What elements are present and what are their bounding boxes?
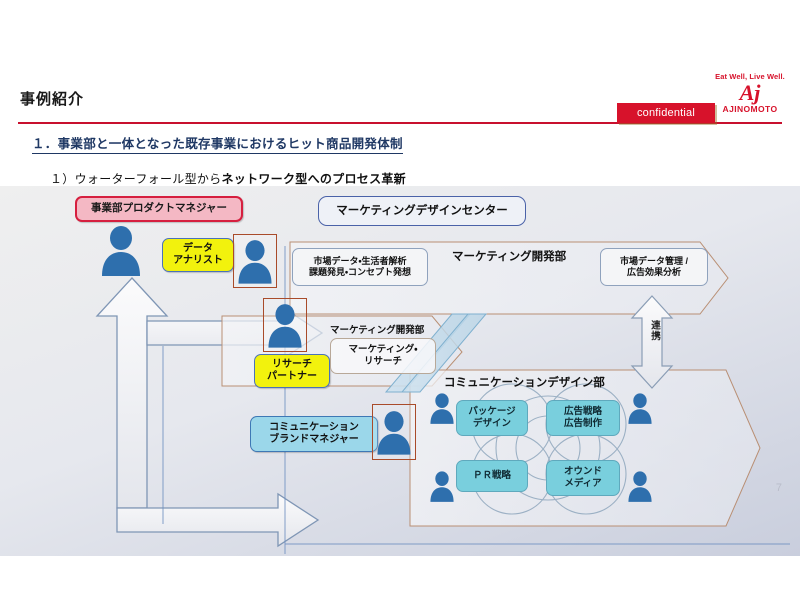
person-icon-comm-team-bottom-right xyxy=(626,470,654,502)
node-task-ad-strategy[interactable]: 広告戦略 広告制作 xyxy=(546,400,620,436)
ajinomoto-logo: Eat Well, Live Well. Aj AJINOMOTO xyxy=(706,72,794,130)
page-title: 事例紹介 xyxy=(20,88,84,109)
person-icon-comm-team-top-left xyxy=(428,392,456,424)
label-marketing-dev-dept-top: マーケティング開発部 xyxy=(452,248,566,264)
person-icon-comm-team-bottom-left xyxy=(428,470,456,502)
node-product-manager[interactable]: 事業部プロダクトマネジャー xyxy=(75,196,243,222)
section-heading-2: １）ウォーターフォール型からネットワーク型へのプロセス革新 xyxy=(50,170,406,187)
label-marketing-dev-dept-inner: マーケティング開発部 xyxy=(330,322,424,336)
logo-wordmark: AJINOMOTO xyxy=(706,104,794,114)
section-heading-2-emphasis: ネットワーク型へのプロセス革新 xyxy=(221,172,406,186)
label-collaboration: 連携 xyxy=(647,320,661,341)
comm-design-chevron xyxy=(410,370,760,526)
node-task-marketing-research[interactable]: マーケティング・ リサーチ xyxy=(330,338,436,374)
slide-canvas: 事例紹介 １．事業部と一体となった既存事業におけるヒット商品開発体制 １）ウォー… xyxy=(0,0,800,600)
node-task-pr-strategy[interactable]: ＰＲ戦略 xyxy=(456,460,528,492)
confidential-badge: confidential xyxy=(617,103,715,123)
person-icon-product-manager xyxy=(98,224,144,276)
node-data-analyst[interactable]: データ アナリスト xyxy=(162,238,234,272)
person-icon-comm-team-top-right xyxy=(626,392,654,424)
node-task-market-analysis[interactable]: 市場データ・生活者解析 課題発見・コンセプト発想 xyxy=(292,248,428,286)
node-comm-brand-manager[interactable]: コミュニケーション ブランドマネジャー xyxy=(250,416,378,452)
node-marketing-design-center[interactable]: マーケティングデザインセンター xyxy=(318,196,526,226)
page-number: 7 xyxy=(776,482,782,494)
node-task-package-design[interactable]: パッケージ デザイン xyxy=(456,400,528,436)
node-research-partner[interactable]: リサーチ パートナー xyxy=(254,354,330,388)
node-task-market-data-management[interactable]: 市場データ管理 / 広告効果分析 xyxy=(600,248,708,286)
process-diagram: マーケティング開発部 マーケティング開発部 コミュニケーションデザイン部 連携 … xyxy=(0,186,800,556)
person-icon-comm-brand-manager xyxy=(372,404,416,460)
node-task-owned-media[interactable]: オウンド メディア xyxy=(546,460,620,496)
person-icon-data-analyst xyxy=(233,234,277,288)
person-icon-research-partner xyxy=(263,298,307,352)
label-comm-design-dept: コミュニケーションデザイン部 xyxy=(444,374,605,390)
logo-mark-icon: Aj xyxy=(706,81,794,104)
section-heading-1: １．事業部と一体となった既存事業におけるヒット商品開発体制 xyxy=(32,133,403,154)
section-heading-2-prefix: １）ウォーターフォール型から xyxy=(50,172,221,186)
header-band xyxy=(0,0,800,62)
